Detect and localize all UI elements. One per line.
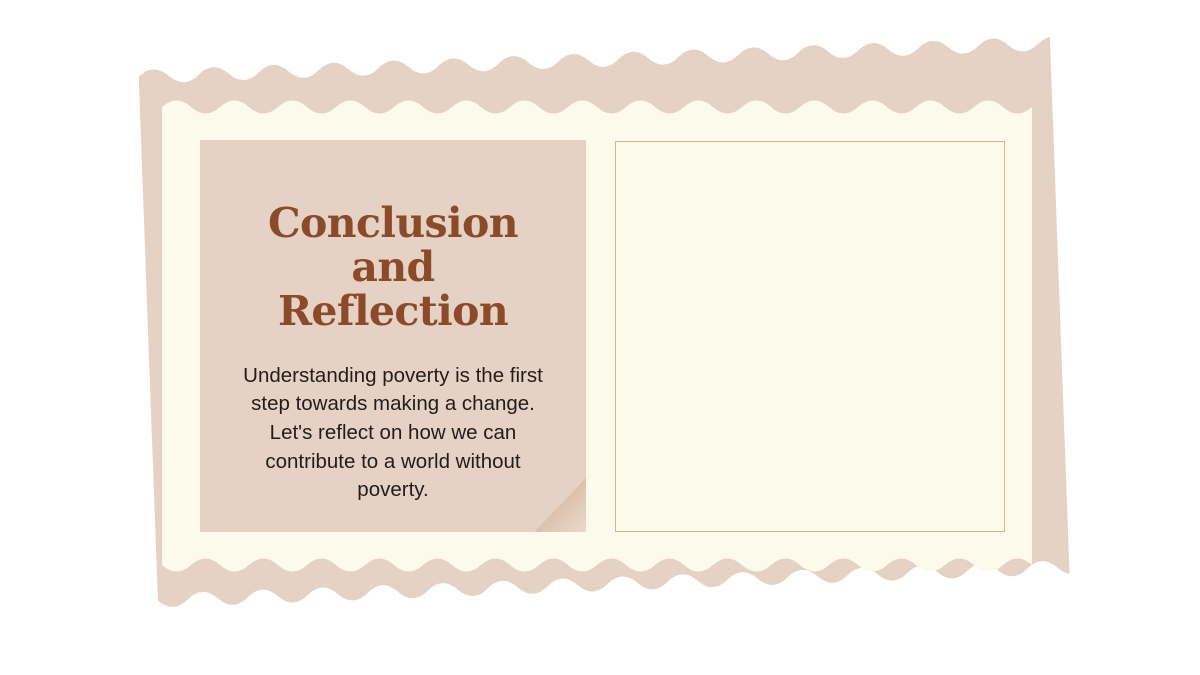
text-panel: Conclusion and Reflection Understanding …: [200, 140, 586, 532]
image-placeholder-frame[interactable]: [615, 141, 1005, 532]
body-paragraph: Understanding poverty is the first step …: [230, 362, 556, 505]
text-panel-inner: Conclusion and Reflection Understanding …: [230, 202, 556, 505]
page-title: Conclusion and Reflection: [230, 202, 556, 334]
slide-canvas: Conclusion and Reflection Understanding …: [0, 0, 1200, 675]
image-placeholder-slot[interactable]: [616, 142, 1004, 531]
slide-content: Conclusion and Reflection Understanding …: [0, 0, 1200, 675]
